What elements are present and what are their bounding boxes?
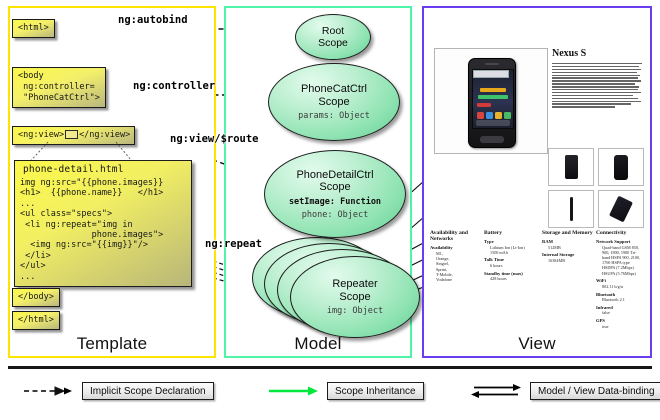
phone-search-bar-icon <box>473 70 509 78</box>
article-body-placeholder <box>552 63 642 108</box>
article-block: Nexus S <box>552 48 642 109</box>
phone-speaker-icon <box>485 63 499 65</box>
ng-view-close-tag: </ng:view> <box>79 130 130 140</box>
specs-values-1-2: 428 hours <box>484 276 538 281</box>
edge-label-ng-repeat: ng:repeat <box>205 238 262 250</box>
phone-app-icon-4 <box>504 112 511 119</box>
scope-phonedetailctrl: PhoneDetailCtrl Scope setImage: Function… <box>264 150 406 238</box>
scope-phonedetailctrl-attr-setimage: setImage: Function <box>289 197 381 207</box>
specs-values-2-0: 512MB <box>542 245 594 250</box>
scope-repeater-name: Repeater Scope <box>332 278 377 303</box>
phone-screen <box>472 69 514 129</box>
scope-phonecatctrl: PhoneCatCtrl Scope params: Object <box>268 63 400 141</box>
specs-values-3-3: false <box>596 310 646 315</box>
edge-label-ng-view-route: ng:view/$route <box>170 133 259 145</box>
scope-phonecatctrl-attr-params: params: Object <box>298 111 370 121</box>
legend-dashed-arrow-icon <box>22 385 74 397</box>
phone-widget-line-2 <box>478 95 508 99</box>
specs-header-2: Storage and Memory <box>542 230 594 236</box>
legend-label-scope-inheritance: Scope Inheritance <box>327 382 424 400</box>
specs-column-availability: Availability and Networks Availability M… <box>430 230 480 282</box>
ng-view-open-tag: <ng:view> <box>18 130 64 140</box>
edge-label-ng-controller: ng:controller <box>133 80 215 92</box>
specs-column-storage: Storage and Memory RAM 512MB Internal St… <box>542 230 594 263</box>
template-file-note: phone-detail.html img ng:src="{{phone.im… <box>14 160 192 287</box>
template-file-name: phone-detail.html <box>15 161 191 177</box>
specs-values-3-0: Quad-band GSM 850,900, 1800, 1900 Tri-ba… <box>596 245 646 276</box>
code-box-html-close: </html> <box>12 311 60 330</box>
code-box-html-open: <html> <box>12 19 55 38</box>
legend-divider <box>8 366 652 369</box>
template-file-code: img ng:src="{{phone.images}} <h1> {{phon… <box>15 177 191 286</box>
thumbnail-1[interactable] <box>548 148 594 186</box>
thumbnail-4[interactable] <box>598 190 644 228</box>
phone-home-button-icon <box>480 136 504 143</box>
column-label-model: Model <box>226 334 410 354</box>
scope-root-name: Root Scope <box>318 25 348 50</box>
code-box-body-open: <body ng:controller= "PhoneCatCtrl"> <box>12 67 106 108</box>
thumbnail-2[interactable] <box>598 148 644 186</box>
phone-widget-line-1 <box>480 88 506 92</box>
thumbnail-3[interactable] <box>548 190 594 228</box>
specs-values-3-1: 802.11 b/g/n <box>596 284 646 289</box>
legend-label-implicit-scope: Implicit Scope Declaration <box>82 382 214 400</box>
angular-scope-diagram: Template <html> <body ng:controller= "Ph… <box>0 0 660 420</box>
article-title: Nexus S <box>552 48 642 59</box>
thumb-phone-angled-icon <box>609 196 633 223</box>
specs-values-2-1: 16384MB <box>542 258 594 263</box>
specs-values-1-0: Lithium Ion (Li-Ion)1500 mAh <box>484 245 538 255</box>
specs-values-3-2: Bluetooth 2.1 <box>596 297 646 302</box>
phone-app-icon-2 <box>486 112 493 119</box>
specs-header-0: Availability and Networks <box>430 230 480 243</box>
column-label-view: View <box>424 334 650 354</box>
specs-values-3-4: true <box>596 324 646 329</box>
scope-repeater: Repeater Scope img: Object <box>290 256 420 338</box>
phone-dock <box>476 120 510 126</box>
phone-device-image <box>468 58 516 148</box>
phone-app-icon-1 <box>477 112 484 119</box>
legend-solid-green-arrow-icon <box>267 385 319 397</box>
thumb-phone-front-icon <box>565 155 578 179</box>
scope-phonedetailctrl-name: PhoneDetailCtrl Scope <box>296 169 373 194</box>
specs-header-3: Connectivity <box>596 230 646 236</box>
legend-item-implicit-scope: Implicit Scope Declaration <box>22 382 214 400</box>
scope-root: Root Scope <box>295 14 371 60</box>
legend-item-data-binding: Model / View Data-binding <box>470 382 660 400</box>
scope-phonedetailctrl-attr-phone: phone: Object <box>302 210 369 220</box>
thumb-phone-side-icon <box>570 197 573 221</box>
edge-label-ng-autobind: ng:autobind <box>118 14 188 26</box>
code-box-body-close: </body> <box>12 288 60 307</box>
scope-repeater-attr-img: img: Object <box>327 306 383 316</box>
specs-column-connectivity: Connectivity Network Support Quad-band G… <box>596 230 646 329</box>
scope-phonecatctrl-name: PhoneCatCtrl Scope <box>301 83 367 108</box>
legend-double-arrow-icon <box>470 383 522 399</box>
specs-table: Availability and Networks Availability M… <box>430 230 644 330</box>
specs-header-1: Battery <box>484 230 538 236</box>
thumbnail-grid <box>548 148 646 228</box>
ng-view-slot-icon <box>65 130 78 139</box>
phone-widget-line-3 <box>477 103 491 107</box>
thumb-phone-back-icon <box>614 155 628 180</box>
specs-values-1-1: 6 hours <box>484 263 538 268</box>
specs-column-battery: Battery Type Lithium Ion (Li-Ion)1500 mA… <box>484 230 538 282</box>
legend-item-scope-inheritance: Scope Inheritance <box>267 382 424 400</box>
specs-values-0-0: M1,Orange,Singtel,Sprint,T-Mobile,Vodafo… <box>430 251 480 282</box>
hero-image-frame <box>434 48 548 154</box>
legend-label-data-binding: Model / View Data-binding <box>530 382 660 400</box>
phone-app-icon-3 <box>495 112 502 119</box>
column-label-template: Template <box>10 334 214 354</box>
